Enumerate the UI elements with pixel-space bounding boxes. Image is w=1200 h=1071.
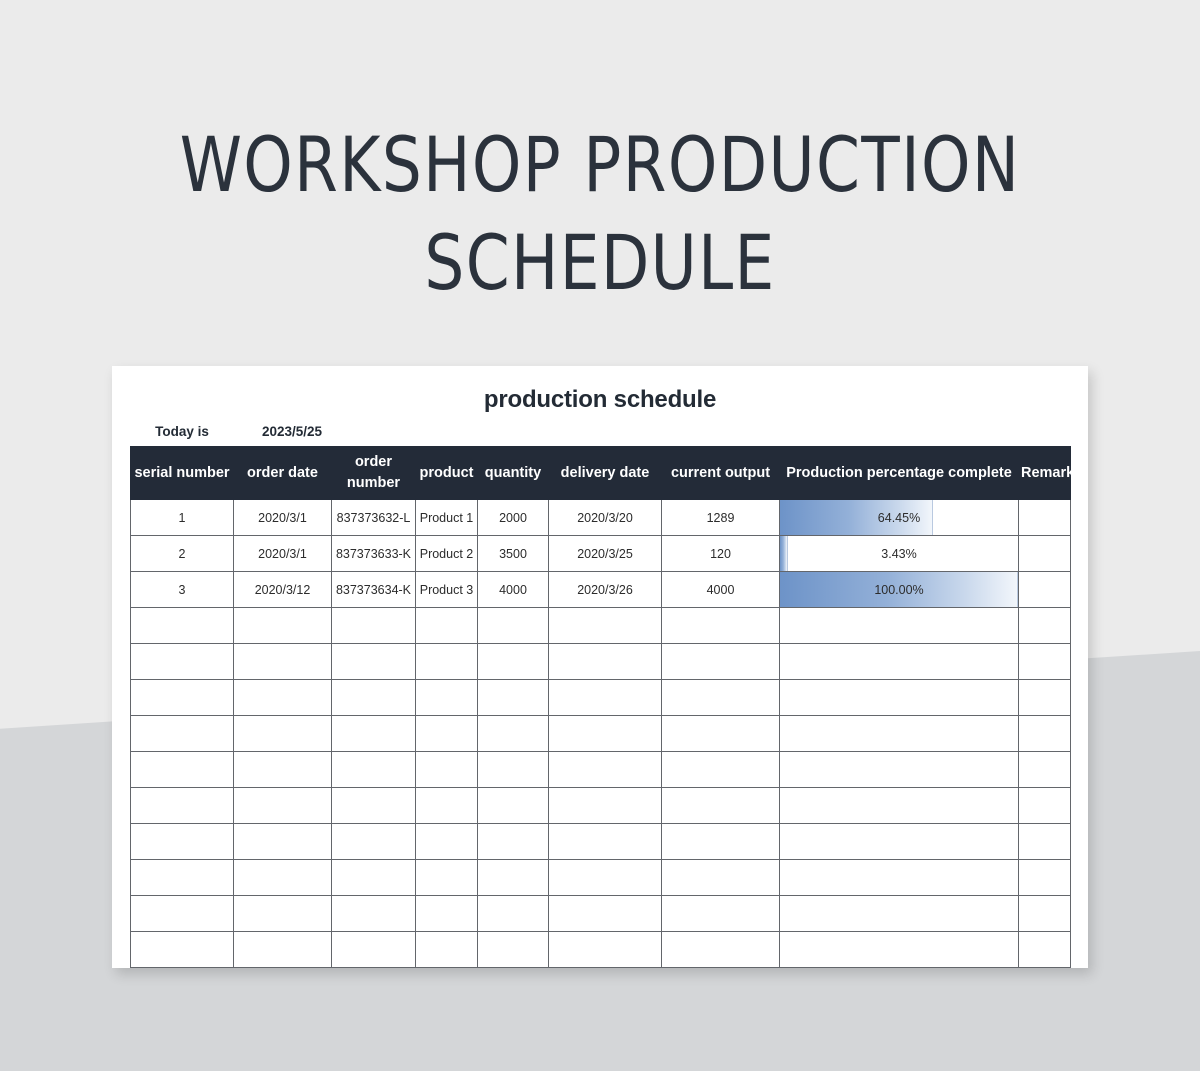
cell-empty[interactable] <box>662 824 780 860</box>
table-row: 22020/3/1837373633-KProduct 235002020/3/… <box>131 536 1071 572</box>
production-schedule-table: serial number order date order number pr… <box>130 446 1071 968</box>
column-header-order-date[interactable]: order date <box>234 447 332 500</box>
cell-empty[interactable] <box>1019 608 1071 644</box>
cell-empty[interactable] <box>1019 896 1071 932</box>
cell-quantity[interactable]: 2000 <box>478 500 549 536</box>
cell-order-date[interactable]: 2020/3/12 <box>234 572 332 608</box>
page-title: WORKSHOP PRODUCTION SCHEDULE <box>0 116 1200 312</box>
cell-empty[interactable] <box>234 680 332 716</box>
table-row-empty <box>131 860 1071 896</box>
cell-empty[interactable] <box>234 788 332 824</box>
cell-serial-number[interactable]: 1 <box>131 500 234 536</box>
cell-empty[interactable] <box>131 752 234 788</box>
cell-empty[interactable] <box>234 932 332 968</box>
column-header-serial-number[interactable]: serial number <box>131 447 234 500</box>
cell-empty[interactable] <box>234 860 332 896</box>
cell-empty[interactable] <box>478 788 549 824</box>
cell-empty[interactable] <box>549 608 662 644</box>
cell-empty[interactable] <box>780 644 1019 680</box>
production-percentage-label: 3.43% <box>783 537 1015 571</box>
spreadsheet-card: production schedule Today is 2023/5/25 s… <box>112 366 1088 968</box>
table-row-empty <box>131 752 1071 788</box>
table-row: 32020/3/12837373634-KProduct 340002020/3… <box>131 572 1071 608</box>
cell-empty[interactable] <box>332 680 416 716</box>
cell-empty[interactable] <box>780 752 1019 788</box>
cell-empty[interactable] <box>780 788 1019 824</box>
cell-product[interactable]: Product 2 <box>416 536 478 572</box>
cell-empty[interactable] <box>662 716 780 752</box>
cell-remark[interactable] <box>1019 500 1071 536</box>
column-header-remark[interactable]: Remark <box>1019 447 1071 500</box>
cell-quantity[interactable]: 3500 <box>478 536 549 572</box>
cell-empty[interactable] <box>780 896 1019 932</box>
cell-current-output[interactable]: 4000 <box>662 572 780 608</box>
cell-current-output[interactable]: 120 <box>662 536 780 572</box>
cell-empty[interactable] <box>478 752 549 788</box>
cell-production-percentage[interactable]: 3.43% <box>780 536 1019 572</box>
cell-empty[interactable] <box>332 716 416 752</box>
cell-empty[interactable] <box>662 608 780 644</box>
cell-serial-number[interactable]: 3 <box>131 572 234 608</box>
cell-empty[interactable] <box>332 644 416 680</box>
cell-empty[interactable] <box>549 752 662 788</box>
today-row: Today is 2023/5/25 <box>132 424 352 439</box>
cell-empty[interactable] <box>662 788 780 824</box>
cell-empty[interactable] <box>780 608 1019 644</box>
cell-empty[interactable] <box>131 824 234 860</box>
sheet-title: production schedule <box>112 366 1088 414</box>
cell-empty[interactable] <box>416 788 478 824</box>
cell-empty[interactable] <box>332 896 416 932</box>
cell-empty[interactable] <box>416 716 478 752</box>
cell-order-number[interactable]: 837373634-K <box>332 572 416 608</box>
column-header-quantity[interactable]: quantity <box>478 447 549 500</box>
cell-production-percentage[interactable]: 64.45% <box>780 500 1019 536</box>
table-row-empty <box>131 788 1071 824</box>
table-row-empty <box>131 896 1071 932</box>
cell-empty[interactable] <box>1019 752 1071 788</box>
cell-empty[interactable] <box>549 860 662 896</box>
cell-empty[interactable] <box>662 860 780 896</box>
cell-empty[interactable] <box>234 896 332 932</box>
table-row-empty <box>131 644 1071 680</box>
cell-empty[interactable] <box>416 752 478 788</box>
column-header-delivery-date[interactable]: delivery date <box>549 447 662 500</box>
cell-empty[interactable] <box>416 932 478 968</box>
table-row-empty <box>131 716 1071 752</box>
cell-empty[interactable] <box>416 680 478 716</box>
cell-order-number[interactable]: 837373632-L <box>332 500 416 536</box>
cell-empty[interactable] <box>549 824 662 860</box>
column-header-product[interactable]: product <box>416 447 478 500</box>
cell-order-number[interactable]: 837373633-K <box>332 536 416 572</box>
cell-empty[interactable] <box>1019 680 1071 716</box>
cell-empty[interactable] <box>780 680 1019 716</box>
cell-empty[interactable] <box>478 644 549 680</box>
cell-empty[interactable] <box>332 860 416 896</box>
cell-remark[interactable] <box>1019 536 1071 572</box>
cell-empty[interactable] <box>234 752 332 788</box>
cell-empty[interactable] <box>416 644 478 680</box>
cell-empty[interactable] <box>662 896 780 932</box>
cell-empty[interactable] <box>131 644 234 680</box>
cell-empty[interactable] <box>332 824 416 860</box>
cell-empty[interactable] <box>131 932 234 968</box>
table-row-empty <box>131 932 1071 968</box>
cell-empty[interactable] <box>1019 644 1071 680</box>
cell-empty[interactable] <box>131 608 234 644</box>
column-header-current-output[interactable]: current output <box>662 447 780 500</box>
today-date-value: 2023/5/25 <box>232 424 352 439</box>
cell-empty[interactable] <box>1019 932 1071 968</box>
cell-delivery-date[interactable]: 2020/3/20 <box>549 500 662 536</box>
cell-product[interactable]: Product 1 <box>416 500 478 536</box>
cell-empty[interactable] <box>549 716 662 752</box>
cell-empty[interactable] <box>234 644 332 680</box>
page-title-line-1: WORKSHOP PRODUCTION <box>48 116 1152 214</box>
today-label: Today is <box>132 424 232 439</box>
cell-empty[interactable] <box>131 860 234 896</box>
table-row-empty <box>131 608 1071 644</box>
cell-empty[interactable] <box>662 644 780 680</box>
cell-empty[interactable] <box>662 680 780 716</box>
cell-product[interactable]: Product 3 <box>416 572 478 608</box>
cell-empty[interactable] <box>780 716 1019 752</box>
production-percentage-label: 100.00% <box>783 573 1015 607</box>
cell-order-date[interactable]: 2020/3/1 <box>234 500 332 536</box>
cell-production-percentage[interactable]: 100.00% <box>780 572 1019 608</box>
cell-empty[interactable] <box>780 932 1019 968</box>
cell-empty[interactable] <box>332 788 416 824</box>
cell-serial-number[interactable]: 2 <box>131 536 234 572</box>
cell-empty[interactable] <box>332 932 416 968</box>
cell-empty[interactable] <box>131 716 234 752</box>
cell-empty[interactable] <box>1019 860 1071 896</box>
cell-empty[interactable] <box>416 608 478 644</box>
cell-empty[interactable] <box>478 716 549 752</box>
cell-empty[interactable] <box>1019 824 1071 860</box>
table-row-empty <box>131 824 1071 860</box>
cell-empty[interactable] <box>549 896 662 932</box>
cell-empty[interactable] <box>1019 788 1071 824</box>
cell-empty[interactable] <box>332 752 416 788</box>
cell-empty[interactable] <box>416 860 478 896</box>
table-body: 12020/3/1837373632-LProduct 120002020/3/… <box>131 500 1071 968</box>
cell-empty[interactable] <box>234 716 332 752</box>
cell-empty[interactable] <box>549 932 662 968</box>
cell-empty[interactable] <box>478 860 549 896</box>
cell-empty[interactable] <box>549 680 662 716</box>
cell-empty[interactable] <box>662 752 780 788</box>
cell-delivery-date[interactable]: 2020/3/26 <box>549 572 662 608</box>
cell-empty[interactable] <box>549 788 662 824</box>
cell-empty[interactable] <box>234 608 332 644</box>
cell-empty[interactable] <box>478 608 549 644</box>
cell-empty[interactable] <box>332 608 416 644</box>
cell-empty[interactable] <box>478 932 549 968</box>
production-percentage-label: 64.45% <box>783 501 1015 535</box>
cell-empty[interactable] <box>131 680 234 716</box>
cell-empty[interactable] <box>416 896 478 932</box>
page-title-line-2: SCHEDULE <box>48 214 1152 312</box>
cell-order-date[interactable]: 2020/3/1 <box>234 536 332 572</box>
cell-empty[interactable] <box>131 896 234 932</box>
cell-empty[interactable] <box>780 824 1019 860</box>
cell-empty[interactable] <box>131 788 234 824</box>
cell-current-output[interactable]: 1289 <box>662 500 780 536</box>
cell-empty[interactable] <box>1019 716 1071 752</box>
cell-quantity[interactable]: 4000 <box>478 572 549 608</box>
cell-empty[interactable] <box>234 824 332 860</box>
cell-remark[interactable] <box>1019 572 1071 608</box>
table-header-row: serial number order date order number pr… <box>131 447 1071 500</box>
cell-empty[interactable] <box>780 860 1019 896</box>
table-row-empty <box>131 680 1071 716</box>
column-header-order-number[interactable]: order number <box>332 447 416 500</box>
cell-empty[interactable] <box>478 896 549 932</box>
cell-empty[interactable] <box>662 932 780 968</box>
column-header-production-pct[interactable]: Production percentage complete <box>780 447 1019 500</box>
table-row: 12020/3/1837373632-LProduct 120002020/3/… <box>131 500 1071 536</box>
cell-delivery-date[interactable]: 2020/3/25 <box>549 536 662 572</box>
cell-empty[interactable] <box>416 824 478 860</box>
cell-empty[interactable] <box>478 680 549 716</box>
cell-empty[interactable] <box>549 644 662 680</box>
cell-empty[interactable] <box>478 824 549 860</box>
